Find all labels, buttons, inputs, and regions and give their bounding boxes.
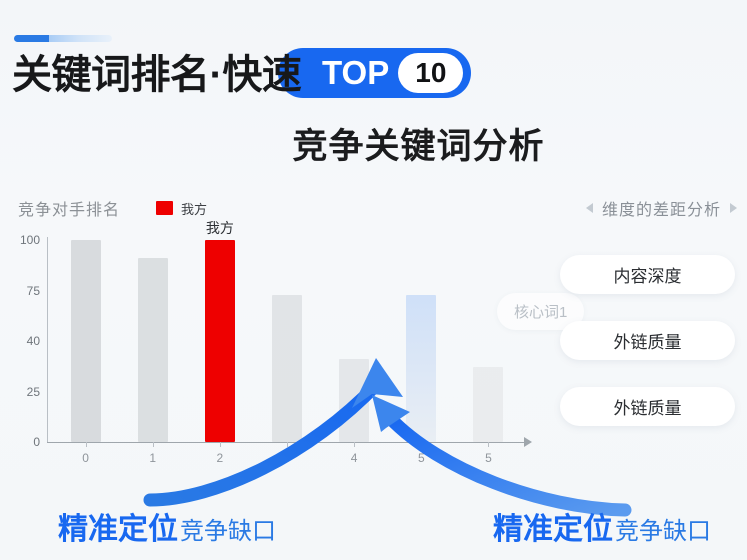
bar-label-ours: 我方	[190, 218, 250, 238]
x-axis-tick: 5	[485, 451, 492, 465]
dimension-pill[interactable]: 内容深度	[560, 255, 735, 294]
x-axis-tick-mark	[421, 442, 422, 447]
page-title: 竞争关键词分析	[0, 118, 747, 169]
x-axis-tick: 2	[217, 451, 224, 465]
x-axis-tick: 0	[82, 451, 89, 465]
dimension-pill[interactable]: 外链质量	[560, 321, 735, 360]
y-axis-tick: 75	[0, 284, 40, 298]
badge-top-label: TOP	[322, 48, 389, 98]
caption-left: 精准定位 竞争缺口	[58, 504, 276, 548]
dimension-panel-title: 维度的差距分析	[602, 196, 721, 220]
x-axis-tick: 3	[284, 451, 291, 465]
accent-bar-filled	[14, 35, 49, 42]
headline: 关键词排名·快速	[12, 48, 301, 102]
y-axis: 1007540250	[0, 240, 40, 440]
dimension-panel-header: 维度的差距分析	[586, 196, 737, 220]
bar-ours	[205, 240, 235, 442]
dimension-pill-list: 内容深度 外链质量 外链质量	[560, 255, 735, 453]
caption-left-weak: 竞争缺口	[180, 511, 276, 546]
x-axis-tick-mark	[86, 442, 87, 447]
top-rank-badge: TOP 10	[278, 48, 471, 98]
x-axis-tick: 4	[351, 451, 358, 465]
bar-competitor	[473, 367, 503, 442]
caption-right: 精准定位 竞争缺口	[493, 504, 711, 548]
bar-competitor	[272, 295, 302, 442]
x-axis-arrow-icon	[524, 437, 532, 447]
accent-progress-bar	[14, 35, 112, 42]
y-axis-line	[47, 237, 48, 442]
x-axis-tick-mark	[488, 442, 489, 447]
accent-bar-track	[49, 35, 112, 42]
x-axis-tick: 1	[149, 451, 156, 465]
legend-swatch-icon	[156, 201, 173, 215]
triangle-right-icon	[730, 203, 737, 213]
dimension-pill[interactable]: 外链质量	[560, 387, 735, 426]
badge-number: 10	[398, 53, 463, 93]
x-axis: 0123455	[52, 446, 522, 466]
legend-item-ours: 我方	[156, 199, 207, 218]
headline-text: 关键词排名·快速	[12, 48, 301, 102]
x-axis-tick-mark	[287, 442, 288, 447]
competitor-axis-title: 竞争对手排名	[18, 196, 120, 220]
legend-item-label: 我方	[181, 199, 207, 218]
bar-competitor	[71, 240, 101, 442]
caption-right-weak: 竞争缺口	[615, 511, 711, 546]
x-axis-tick: 5	[418, 451, 425, 465]
x-axis-tick-mark	[220, 442, 221, 447]
x-axis-tick-mark	[153, 442, 154, 447]
chart-plot-area: 我方	[52, 240, 522, 442]
y-axis-tick: 100	[0, 233, 40, 247]
y-axis-tick: 0	[0, 435, 40, 449]
bar-competitor	[406, 295, 436, 442]
bar-competitor	[339, 359, 369, 442]
y-axis-tick: 40	[0, 334, 40, 348]
y-axis-tick: 25	[0, 385, 40, 399]
caption-left-strong: 精准定位	[58, 504, 178, 548]
bar-chart: 1007540250 我方 0123455	[0, 240, 560, 470]
x-axis-tick-mark	[354, 442, 355, 447]
chart-legend-row: 竞争对手排名 我方	[18, 196, 207, 220]
triangle-left-icon	[586, 203, 593, 213]
bar-competitor	[138, 258, 168, 442]
caption-right-strong: 精准定位	[493, 504, 613, 548]
